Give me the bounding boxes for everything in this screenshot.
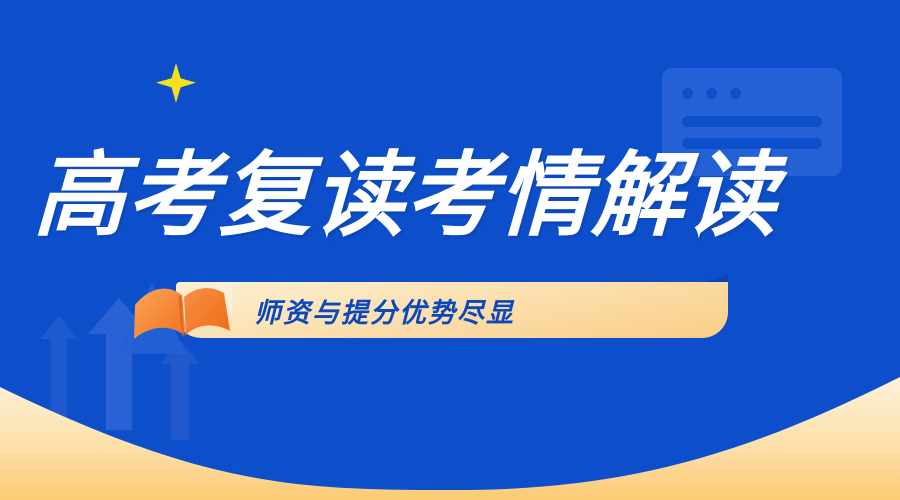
book-icon (132, 281, 236, 343)
promo-banner: 高考复读考情解读 师资与提分优势尽显 (0, 0, 900, 500)
card-dot (706, 88, 717, 99)
wave-divider (0, 370, 900, 500)
subtitle-text: 师资与提分优势尽显 (254, 282, 515, 338)
subtitle-ribbon: 师资与提分优势尽显 (176, 282, 728, 338)
ribbon-tail (706, 274, 728, 282)
sparkle-star-icon (155, 62, 197, 104)
page-title: 高考复读考情解读 (32, 142, 866, 250)
card-dot (682, 88, 693, 99)
card-line (682, 116, 822, 127)
card-dots (682, 88, 741, 99)
card-dot (730, 88, 741, 99)
